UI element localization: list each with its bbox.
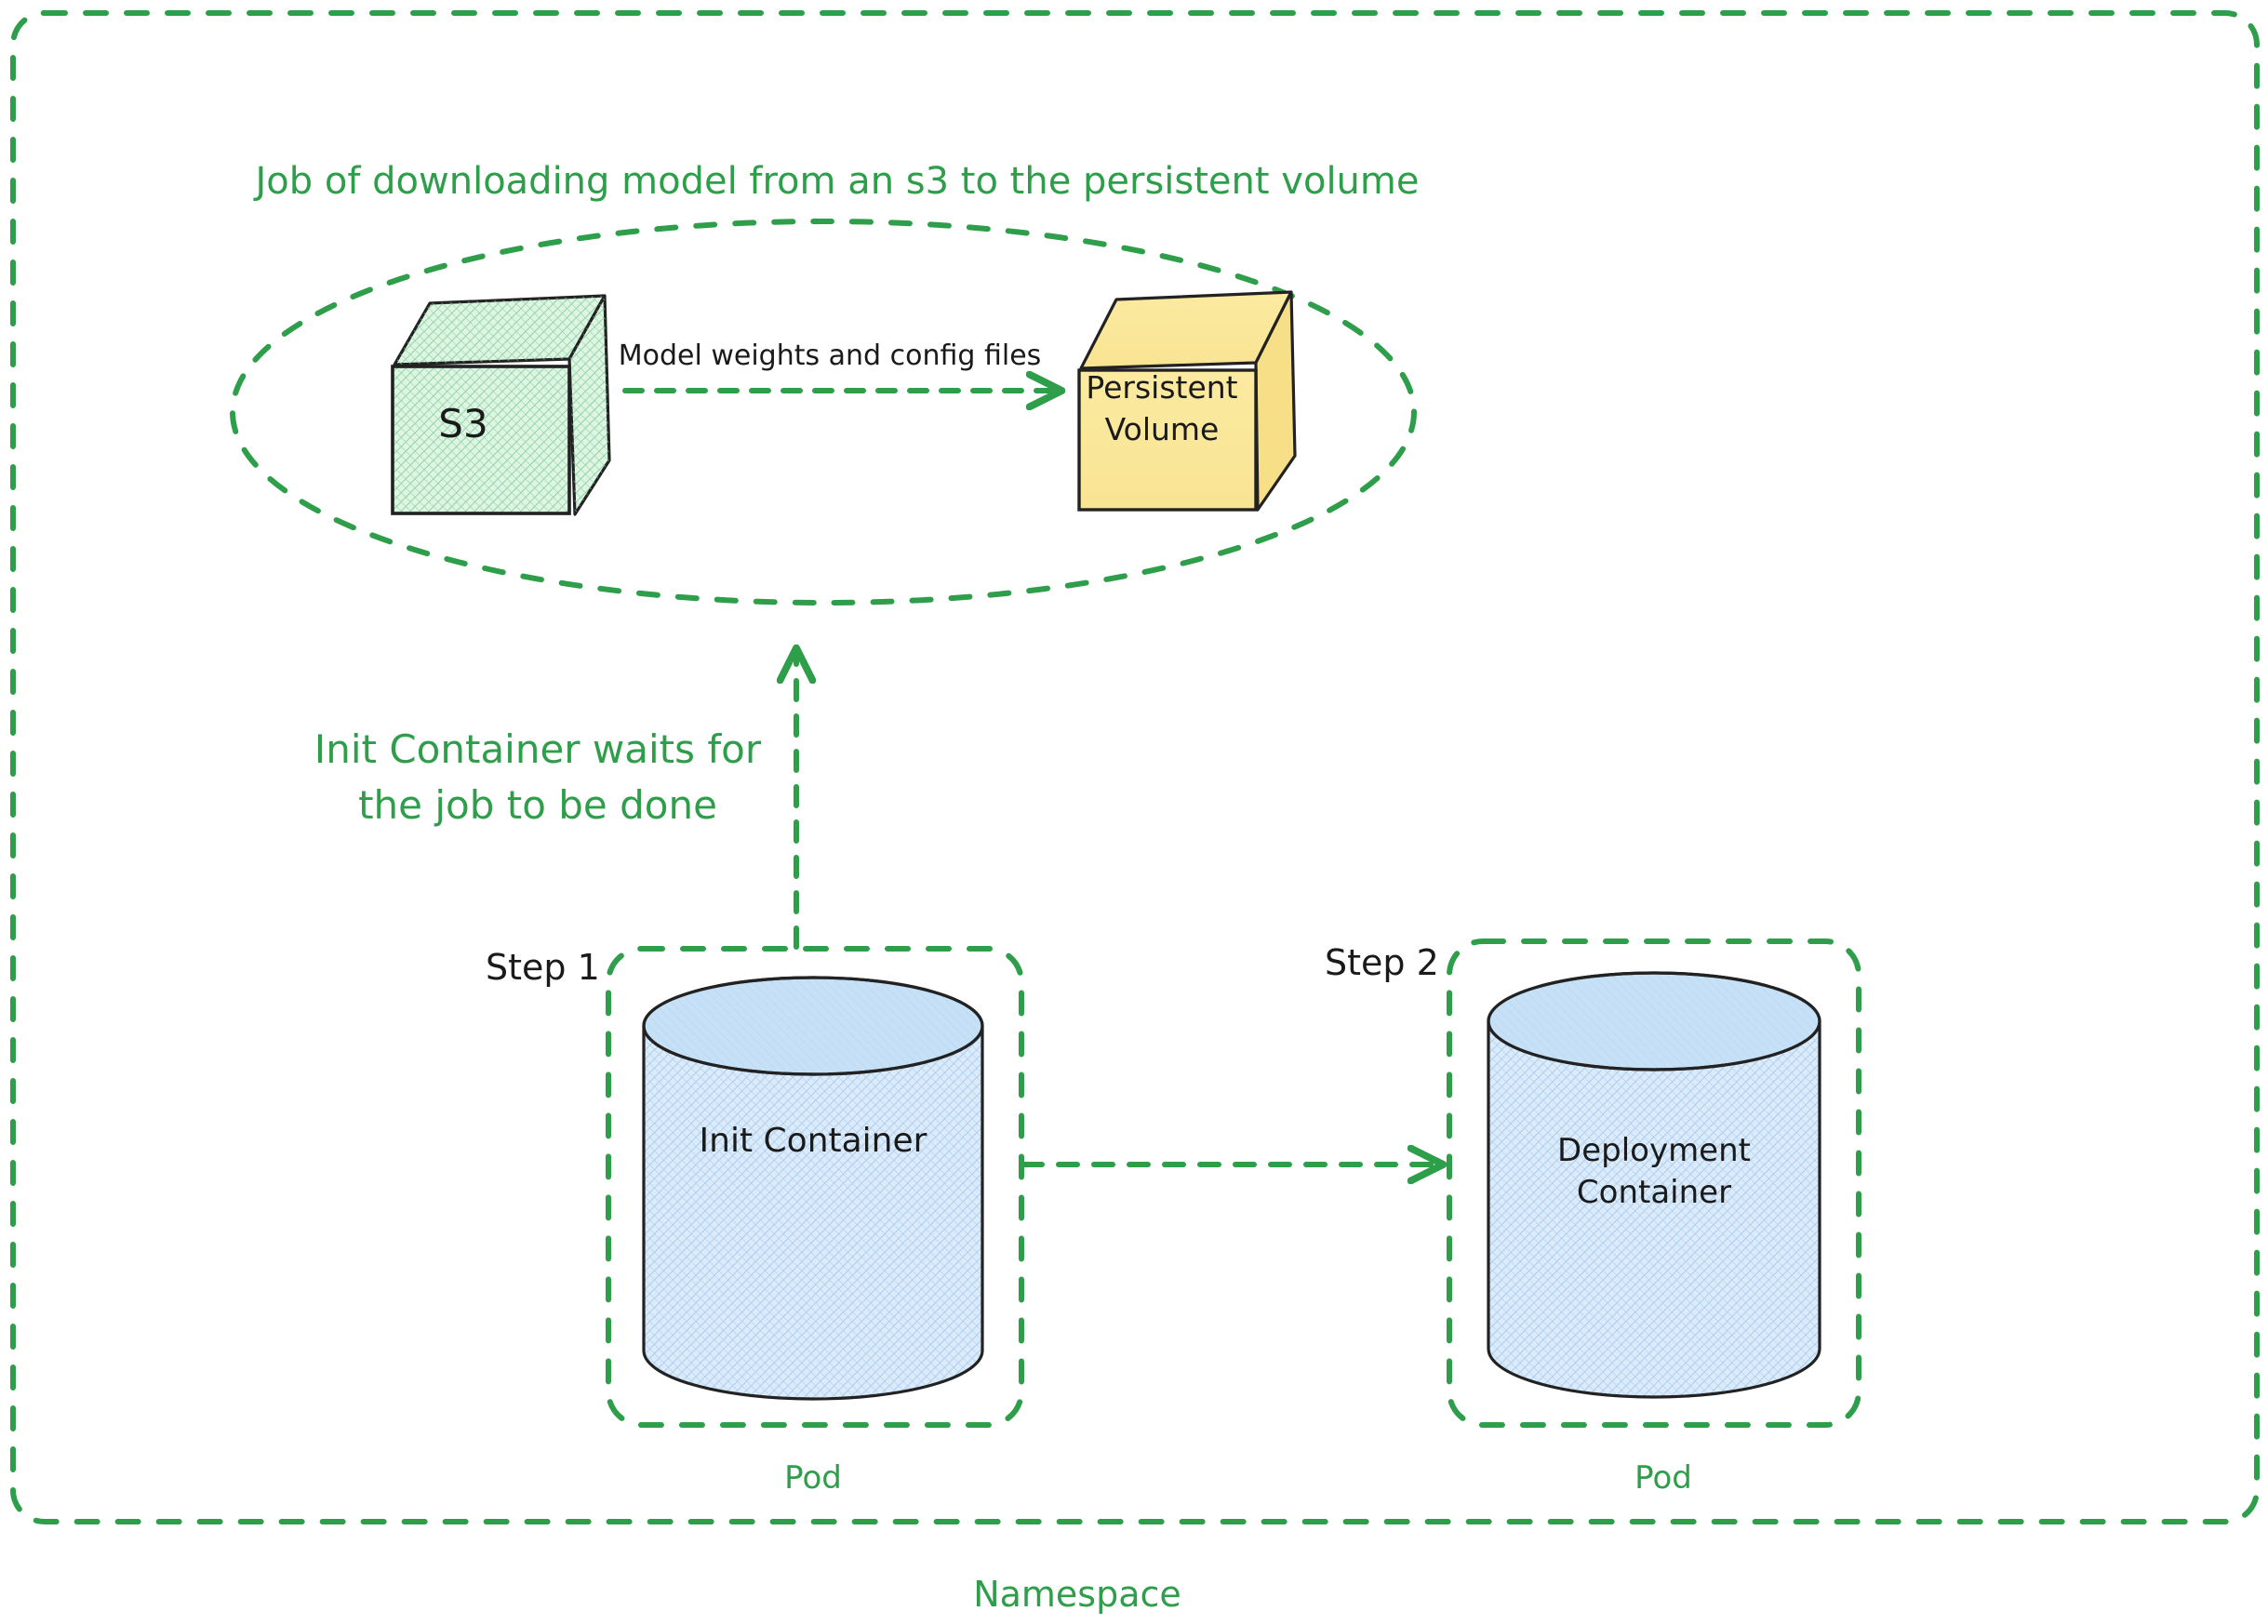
persistent-volume-label-line1: Persistent xyxy=(1086,369,1237,406)
pod-2-label: Pod xyxy=(1634,1459,1692,1497)
job-group-caption: Job of downloading model from an s3 to t… xyxy=(253,160,1420,203)
pod-1-label: Pod xyxy=(784,1459,842,1497)
namespace-label: Namespace xyxy=(973,1574,1181,1615)
s3-cube: S3 xyxy=(393,296,609,514)
init-container-cylinder: Init Container xyxy=(644,978,982,1399)
step-1-label: Step 1 xyxy=(486,947,600,988)
persistent-volume-cube: Persistent Volume xyxy=(1079,292,1295,510)
diagram-canvas: S3 Persistent Volume xyxy=(0,0,2268,1624)
init-container-label: Init Container xyxy=(700,1122,927,1160)
diagram-svg: S3 Persistent Volume xyxy=(0,0,2268,1624)
model-transfer-arrow-label: Model weights and config files xyxy=(619,339,1042,372)
persistent-volume-label-line2: Volume xyxy=(1105,411,1220,447)
deployment-container-label-line2: Container xyxy=(1577,1174,1731,1211)
deployment-container-cylinder: Deployment Container xyxy=(1488,973,1820,1397)
s3-cube-label: S3 xyxy=(438,401,487,446)
wait-edge-label-line2: the job to be done xyxy=(358,782,717,828)
wait-edge-label-line1: Init Container waits for xyxy=(314,726,762,772)
deployment-container-label-line1: Deployment xyxy=(1557,1132,1751,1169)
step-2-label: Step 2 xyxy=(1325,942,1439,983)
